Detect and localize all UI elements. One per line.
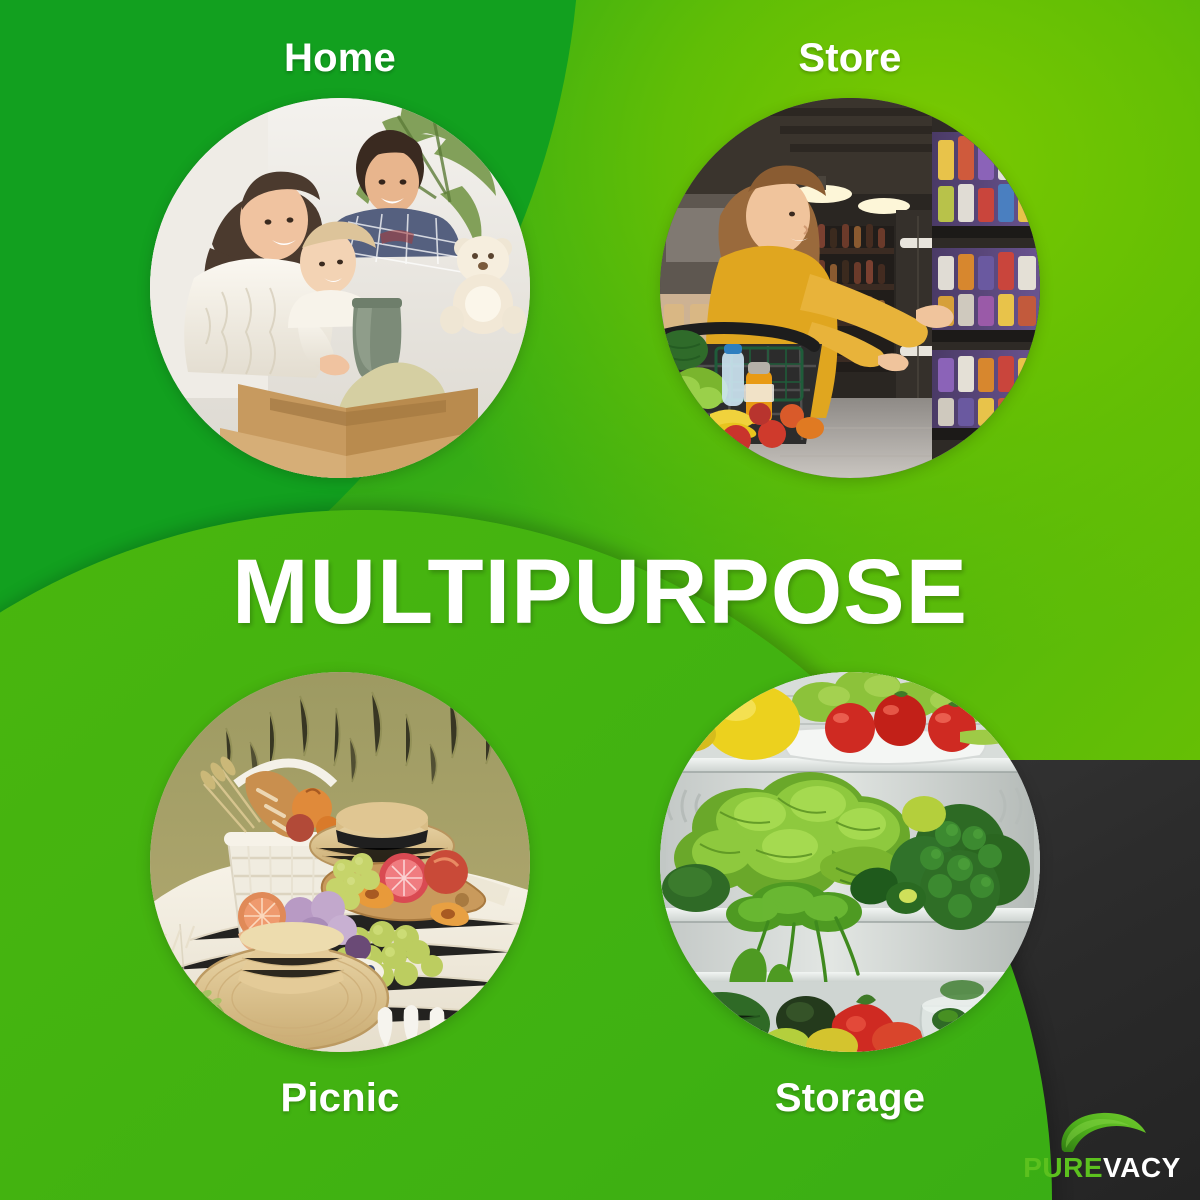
feature-label-picnic: Picnic: [280, 1078, 399, 1118]
leaf-icon: [1056, 1110, 1148, 1152]
brand-wordmark-pure: PURE: [1023, 1152, 1103, 1183]
feature-photo-store: [660, 98, 1040, 478]
feature-cell-picnic: Picnic: [100, 672, 580, 1118]
feature-cell-store: Store: [610, 38, 1090, 478]
brand-wordmark: PUREVACY: [1023, 1154, 1181, 1182]
brand-logo: PUREVACY: [1026, 1110, 1178, 1182]
feature-photo-picnic: [150, 672, 530, 1052]
page-title: MULTIPURPOSE: [0, 546, 1200, 638]
feature-cell-home: Home: [100, 38, 580, 478]
poster-content: Home: [0, 0, 1200, 1200]
feature-label-storage: Storage: [775, 1078, 925, 1118]
feature-photo-home: [150, 98, 530, 478]
feature-label-store: Store: [798, 38, 901, 78]
brand-wordmark-vacy: VACY: [1103, 1152, 1181, 1183]
poster-canvas: Home: [0, 0, 1200, 1200]
feature-photo-storage: [660, 672, 1040, 1052]
feature-cell-storage: Storage: [610, 672, 1090, 1118]
feature-label-home: Home: [284, 38, 396, 78]
